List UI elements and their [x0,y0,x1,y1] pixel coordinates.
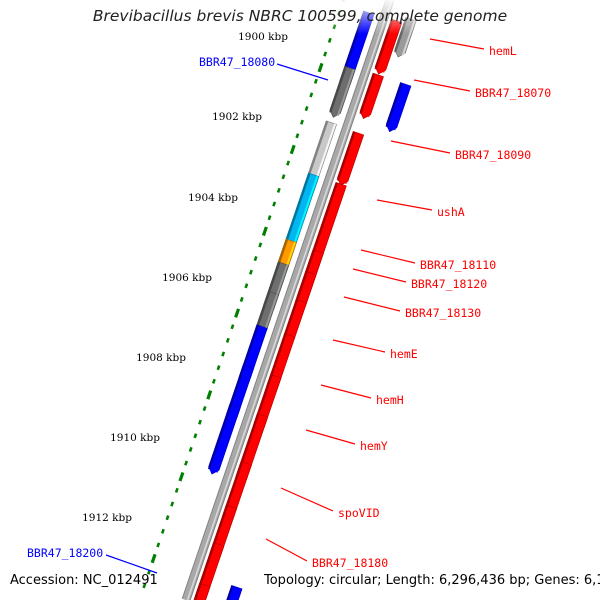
gene-label[interactable]: hemY [360,439,388,453]
gene-label[interactable]: BBR47_18130 [405,306,481,320]
gene-feature[interactable] [225,585,242,600]
scale-tick-label: 1904 kbp [188,192,238,204]
gene-label[interactable]: BBR47_18110 [420,258,496,272]
scale-tick-labels: 1900 kbp1902 kbp1904 kbp1906 kbp1908 kbp… [82,31,288,524]
scale-tick-label: 1906 kbp [162,272,212,284]
gene-feature[interactable] [386,83,411,132]
scale-tick-label: 1908 kbp [136,352,186,364]
gene-label[interactable]: hemE [390,347,418,361]
scale-tick-label: 1902 kbp [212,111,262,123]
gene-label[interactable]: hemH [376,393,404,407]
scale-tick-label: 1910 kbp [110,432,160,444]
gene-label[interactable]: BBR47_18080 [199,55,275,69]
gene-label[interactable]: BBR47_18090 [455,148,531,162]
gene-label[interactable]: BBR47_18120 [411,277,487,291]
gene-feature-track[interactable] [187,11,416,600]
gene-label[interactable]: hemL [489,44,517,58]
gene-label[interactable]: ushA [437,205,465,219]
page-title: Brevibacillus brevis NBRC 100599, comple… [93,7,507,25]
genome-map-canvas[interactable]: 1900 kbp1902 kbp1904 kbp1906 kbp1908 kbp… [0,0,600,600]
topology-status: Topology: circular; Length: 6,296,436 bp… [263,573,600,588]
gene-label[interactable]: BBR47_18180 [312,556,388,570]
scale-tick-label: 1912 kbp [82,512,132,524]
gene-label[interactable]: BBR47_18070 [475,86,551,100]
genome-map-viewer: 1900 kbp1902 kbp1904 kbp1906 kbp1908 kbp… [0,0,600,600]
gene-label[interactable]: BBR47_18200 [27,546,103,560]
scale-tick-marks [144,0,350,588]
accession-status: Accession: NC_012491 [10,573,158,588]
gene-label[interactable]: spoVID [338,506,380,520]
